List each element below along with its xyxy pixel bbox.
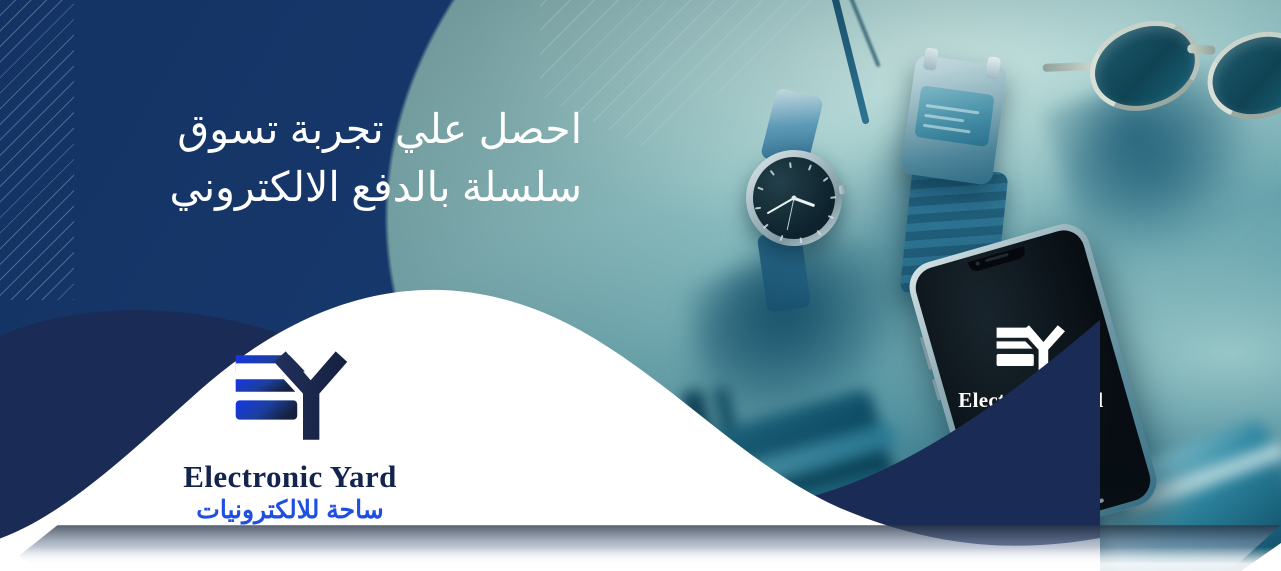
headline: احصل علي تجربة تسوق سلسلة بالدفع الالكتر… — [0, 100, 600, 216]
banner-base-highlight — [0, 547, 1281, 571]
brand-name-ar: ساحة للالكترونيات — [160, 495, 420, 526]
ey-monogram-icon — [228, 345, 353, 450]
brand-name-en: Electronic Yard — [160, 461, 420, 492]
brand-logo: Electronic Yard ساحة للالكترونيات — [160, 345, 420, 526]
promo-banner: Electronic Yard ساحة للالكترونيات احصل ع… — [0, 0, 1281, 571]
headline-line-1: احصل علي تجربة تسوق — [0, 100, 582, 158]
headline-line-2: سلسلة بالدفع الالكتروني — [0, 158, 582, 216]
